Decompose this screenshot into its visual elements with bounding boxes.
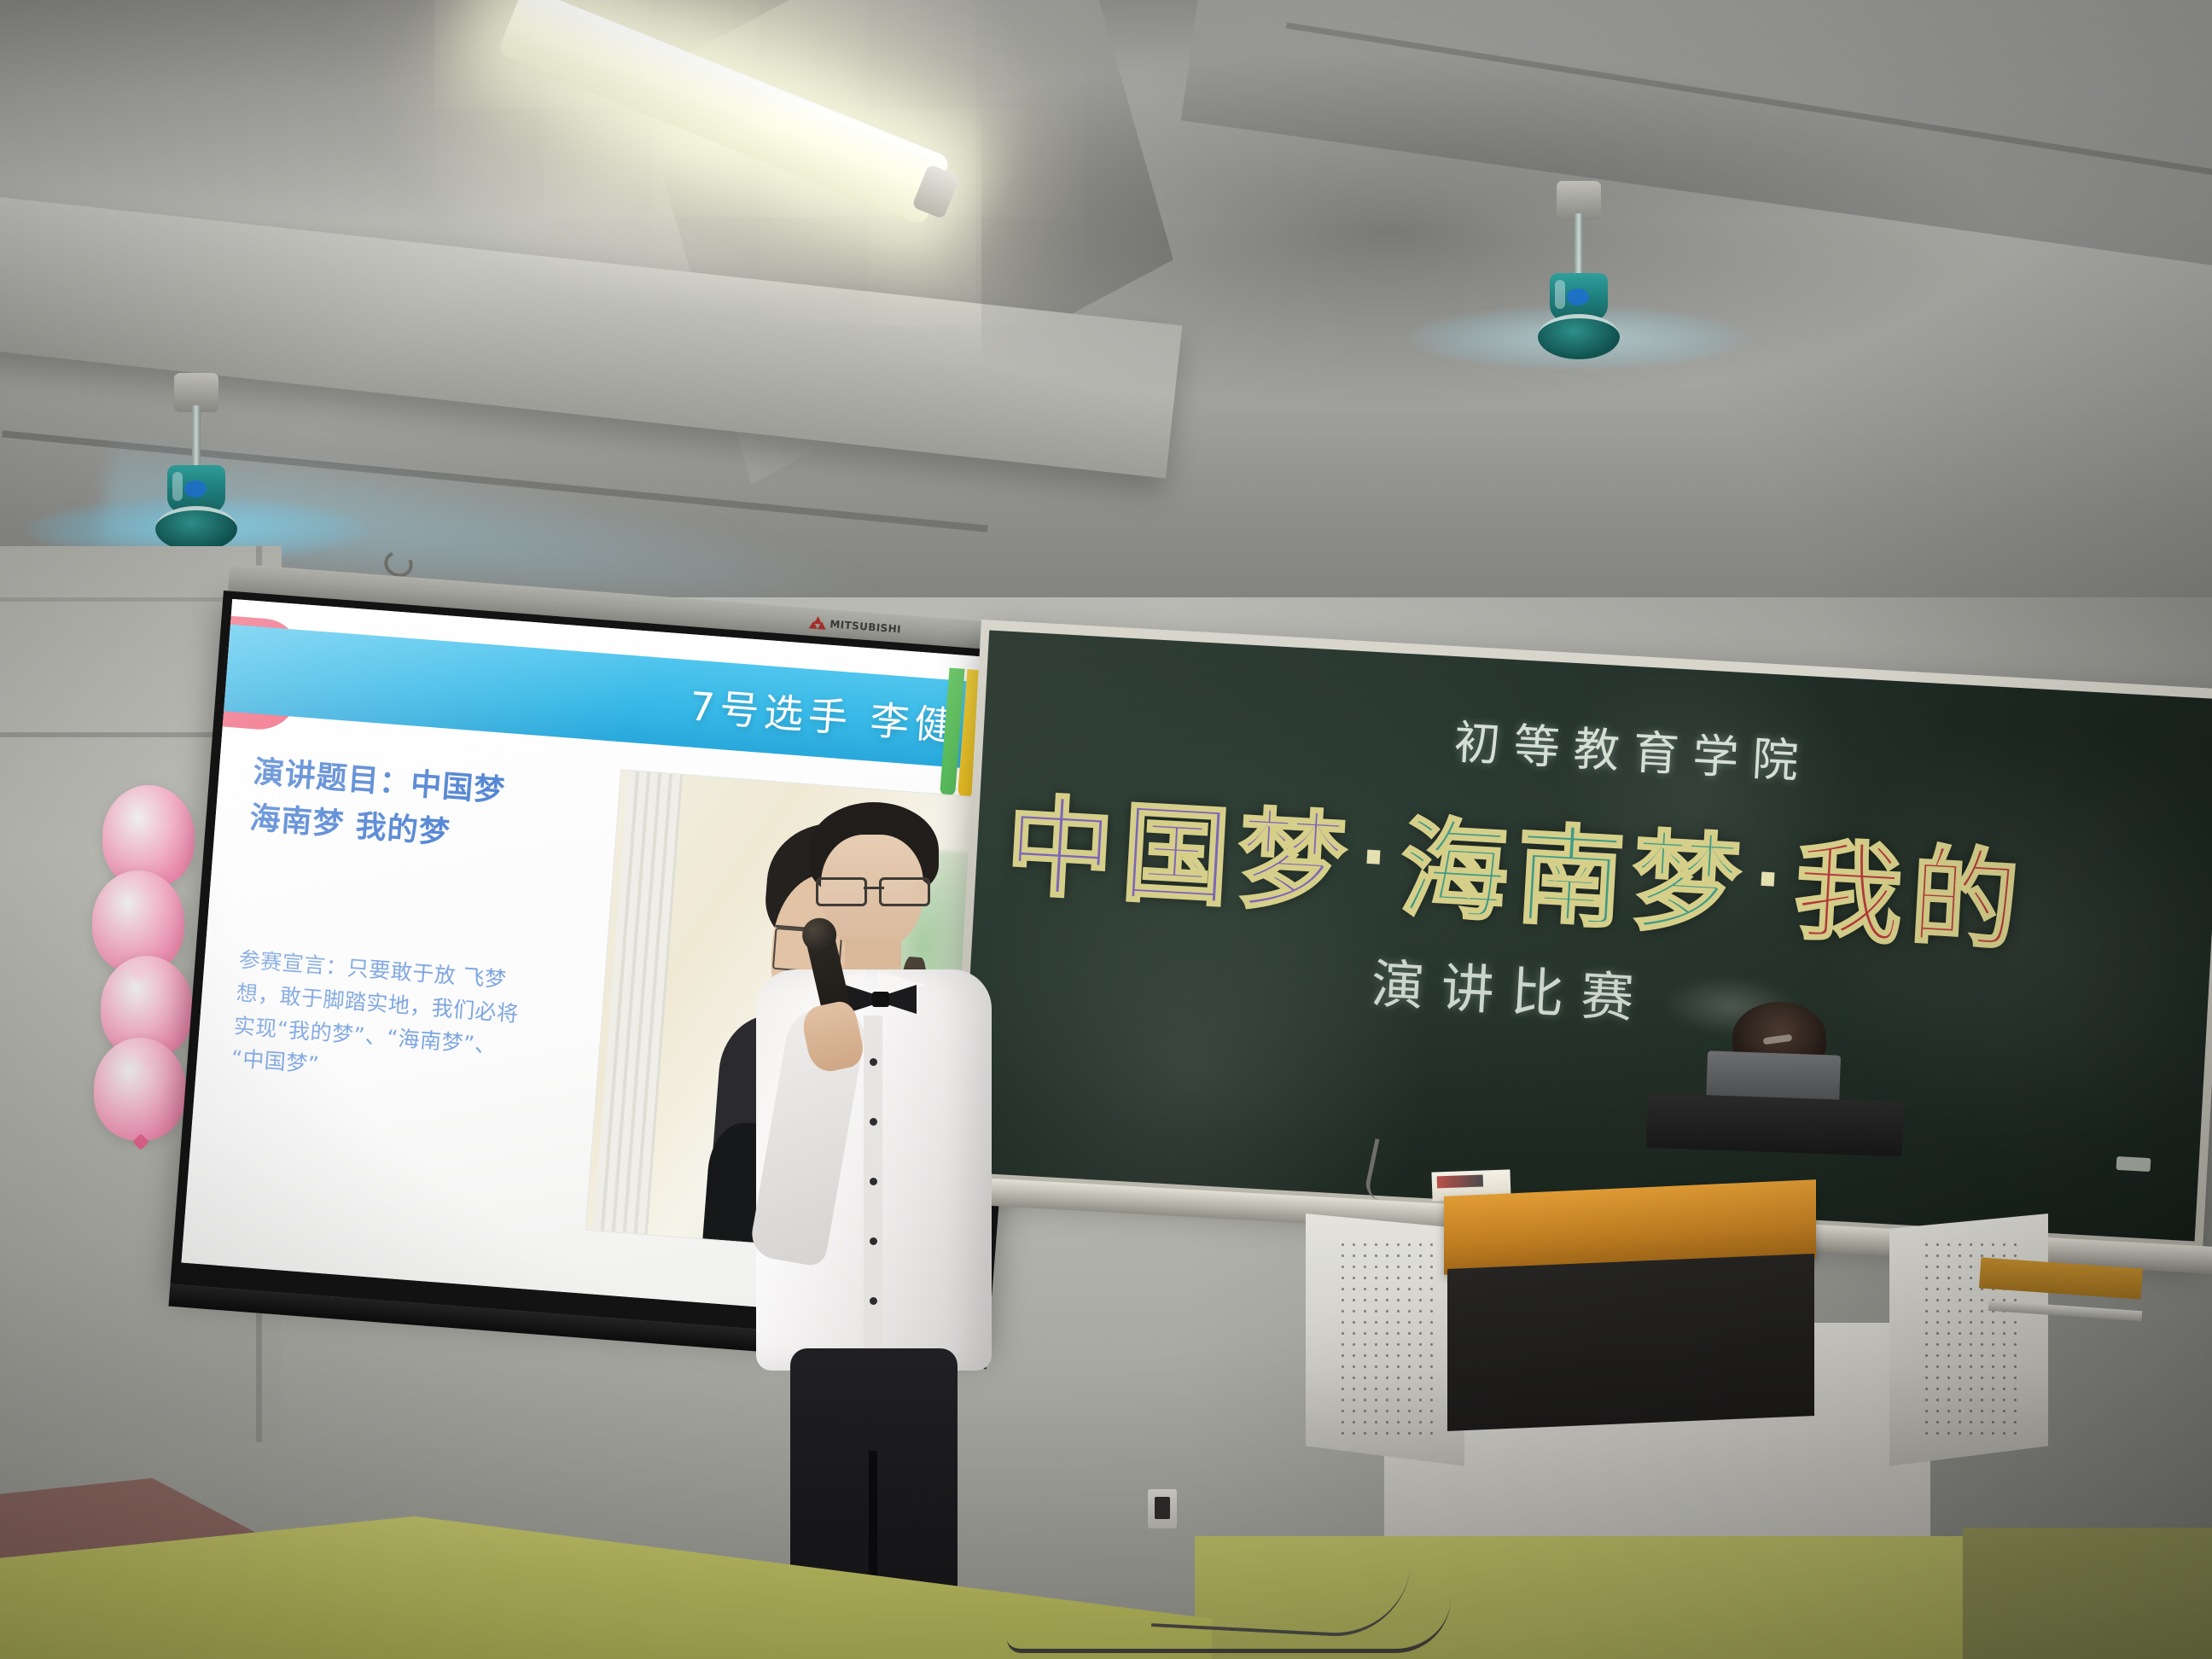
mitsubishi-diamond-icon bbox=[811, 616, 826, 630]
fan-highlight bbox=[1555, 280, 1565, 309]
chalk-stick bbox=[2116, 1156, 2151, 1172]
shirt-placket bbox=[864, 1016, 882, 1357]
blackboard-title-dot-1: · bbox=[1352, 814, 1403, 902]
speaker-glasses-icon bbox=[814, 877, 932, 903]
blackboard-title-seg-3: 我的 bbox=[1791, 804, 2032, 972]
glasses-lens-left bbox=[816, 877, 867, 906]
shirt-button bbox=[870, 1178, 877, 1185]
glasses-bridge bbox=[864, 887, 884, 889]
fan-hub bbox=[1538, 314, 1620, 359]
outlet-socket-icon bbox=[1155, 1497, 1170, 1519]
ceiling bbox=[0, 0, 2212, 649]
podium-speaker-right bbox=[1889, 1214, 2048, 1466]
paper-print bbox=[1437, 1175, 1483, 1189]
shirt-button bbox=[870, 1118, 877, 1126]
blackboard: 初等教育学院 中国梦 · 海南梦 · 我的 演讲比赛 bbox=[950, 620, 2212, 1252]
floor-far-right bbox=[1963, 1528, 2212, 1659]
blackboard-college-line: 初等教育学院 bbox=[1452, 704, 1814, 791]
brand-logo: MITSUBISHI bbox=[811, 616, 902, 636]
fan-downrod bbox=[1575, 213, 1583, 276]
blackboard-title-dot-2: · bbox=[1746, 836, 1797, 924]
fan-downrod bbox=[192, 405, 201, 469]
hair-highlight bbox=[1763, 1034, 1793, 1045]
podium-front-panel bbox=[1447, 1254, 1814, 1431]
balloon bbox=[94, 1038, 186, 1140]
podium-speaker-left bbox=[1306, 1214, 1464, 1466]
blackboard-surface: 初等教育学院 中国梦 · 海南梦 · 我的 演讲比赛 bbox=[959, 631, 2212, 1242]
glasses-lens-right bbox=[879, 877, 930, 906]
podium-monitor-arm bbox=[1646, 1093, 1904, 1156]
fan-highlight bbox=[172, 472, 183, 501]
shirt-button bbox=[870, 1058, 877, 1066]
blackboard-title-seg-2: 海南梦 bbox=[1397, 782, 1754, 956]
speaker-grille-icon bbox=[1337, 1239, 1433, 1436]
bow-tie-wing-right bbox=[886, 985, 917, 1014]
bow-tie-knot bbox=[872, 992, 889, 1007]
fan-badge bbox=[1567, 288, 1589, 306]
power-cable bbox=[1007, 1598, 1451, 1653]
fan-hub bbox=[155, 506, 237, 551]
slide-header-text: 7号选手 李健 bbox=[688, 675, 961, 752]
slide-declaration: 参赛宣言：只要敢于放 飞梦 想，敢于脚踏实地，我们必将 实现“我的梦”、“海南梦… bbox=[230, 944, 596, 1103]
presenting-contestant bbox=[736, 802, 1009, 1659]
shirt-button bbox=[870, 1297, 877, 1305]
blackboard-title: 中国梦 · 海南梦 · 我的 bbox=[1003, 760, 2212, 986]
fan-badge bbox=[184, 480, 207, 498]
shirt-button bbox=[870, 1237, 877, 1245]
classroom-scene-photo: MITSUBISHI 7号选手 李健 演讲题目：中国梦 海南梦 我的梦 bbox=[0, 0, 2212, 1659]
blackboard-title-seg-1: 中国梦 bbox=[1003, 760, 1359, 934]
brand-label: MITSUBISHI bbox=[829, 618, 902, 635]
blackboard-subtitle: 演讲比赛 bbox=[1370, 940, 1654, 1033]
bow-tie bbox=[845, 985, 917, 1014]
slide-text-column: 演讲题目：中国梦 海南梦 我的梦 参赛宣言：只要敢于放 飞梦 想，敢于脚踏实地，… bbox=[215, 749, 611, 1292]
wall-seam bbox=[0, 597, 256, 602]
